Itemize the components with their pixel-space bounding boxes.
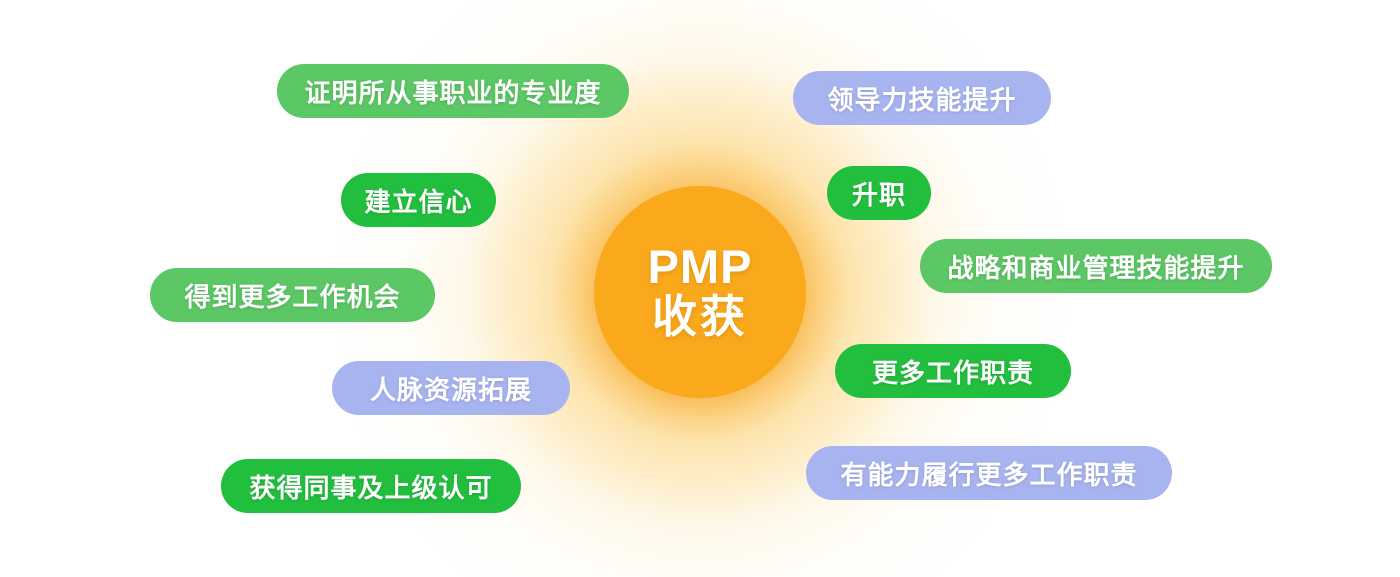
benefit-pill-more-responsibilities[interactable]: 更多工作职责 [835,344,1071,398]
benefit-pill-promotion[interactable]: 升职 [827,166,931,220]
benefit-pill-strategy-business-skills[interactable]: 战略和商业管理技能提升 [920,239,1272,293]
hub-title-cjk: 收获 [652,293,748,342]
benefit-pill-leadership-skills[interactable]: 领导力技能提升 [793,71,1051,125]
hub-title-latin: PMP [648,242,753,293]
benefit-pill-capability-for-responsibilities[interactable]: 有能力履行更多工作职责 [806,446,1172,500]
benefit-pill-more-job-opportunities[interactable]: 得到更多工作机会 [150,268,435,322]
benefit-pill-peer-manager-recognition[interactable]: 获得同事及上级认可 [221,459,521,513]
benefit-pill-professional-proof[interactable]: 证明所从事职业的专业度 [277,64,629,118]
pmp-benefits-infographic: PMP 收获 证明所从事职业的专业度领导力技能提升建立信心升职得到更多工作机会战… [0,0,1400,577]
center-hub: PMP 收获 [594,186,806,398]
benefit-pill-build-confidence[interactable]: 建立信心 [341,173,496,227]
benefit-pill-network-expansion[interactable]: 人脉资源拓展 [332,361,570,415]
